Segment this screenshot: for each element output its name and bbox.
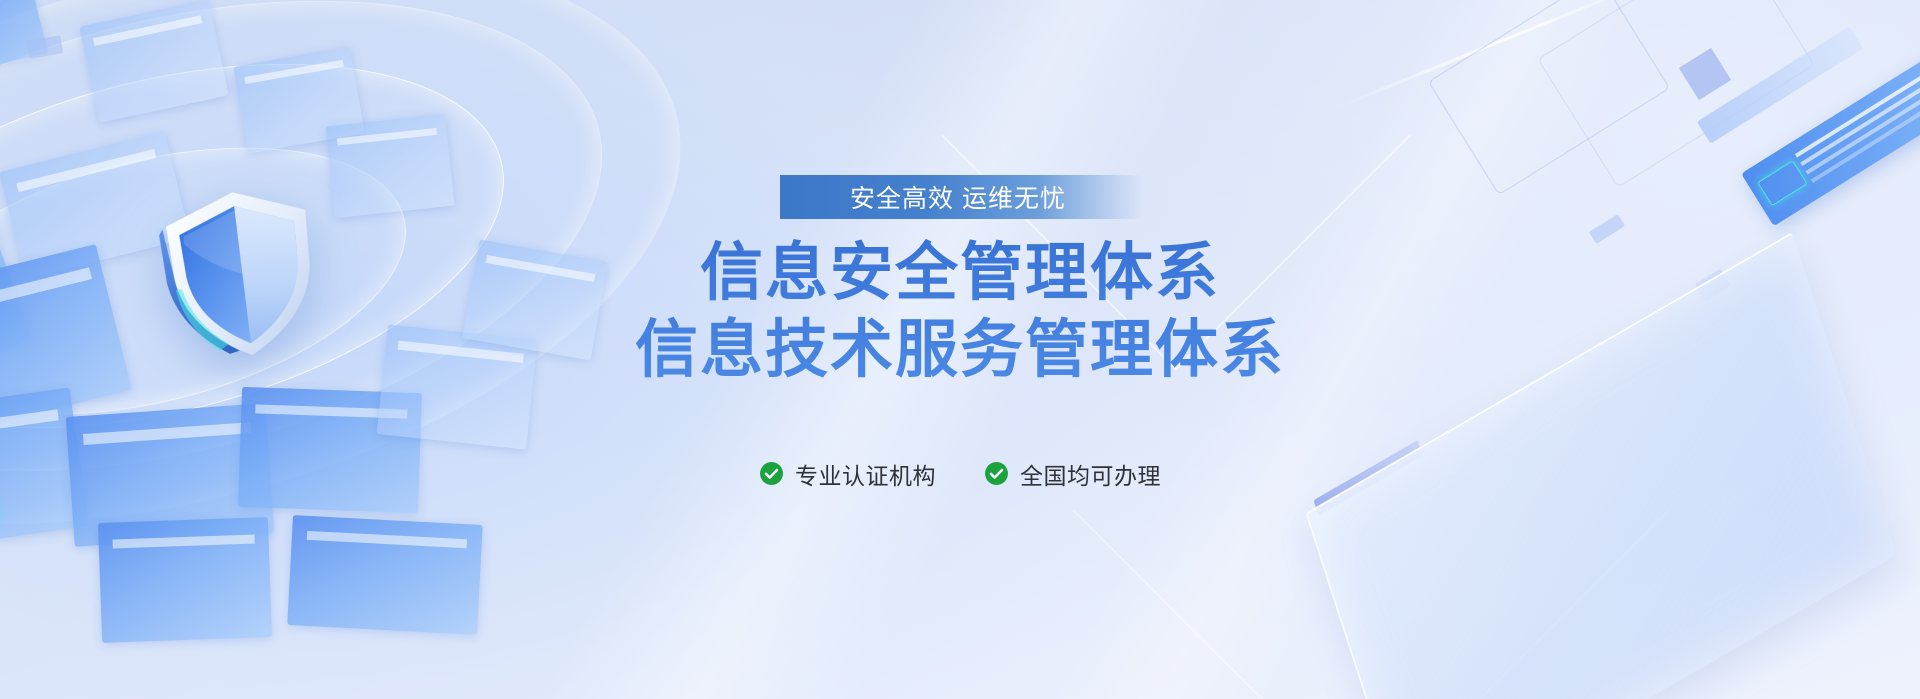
hero-feature-list: 专业认证机构 全国均可办理 — [759, 457, 1161, 491]
hero-headline: 信息安全管理体系 信息技术服务管理体系 — [635, 235, 1285, 389]
feature-label: 专业认证机构 — [795, 457, 936, 491]
feature-label: 全国均可办理 — [1020, 457, 1161, 491]
hero-content: 安全高效 运维无忧 信息安全管理体系 信息技术服务管理体系 专业认证机构 全国均… — [0, 0, 1920, 699]
hero-headline-line-2: 信息技术服务管理体系 — [635, 312, 1285, 389]
check-circle-icon — [759, 461, 784, 486]
hero-tagline-text: 安全高效 运维无忧 — [850, 179, 1066, 215]
feature-item: 全国均可办理 — [984, 457, 1161, 491]
hero-banner: 安全高效 运维无忧 信息安全管理体系 信息技术服务管理体系 专业认证机构 全国均… — [0, 0, 1920, 699]
hero-headline-line-1: 信息安全管理体系 — [635, 235, 1285, 312]
hero-tagline-badge: 安全高效 运维无忧 — [780, 175, 1140, 219]
check-circle-icon — [984, 461, 1009, 486]
feature-item: 专业认证机构 — [759, 457, 936, 491]
